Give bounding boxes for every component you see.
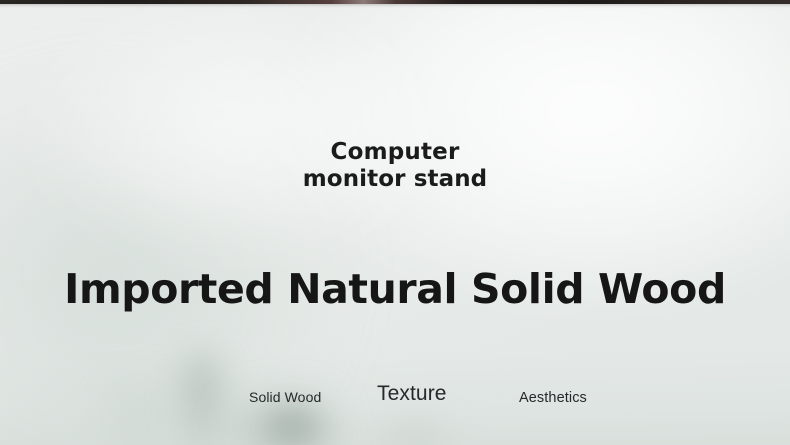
feature-label-aesthetics: Aesthetics <box>519 390 587 406</box>
feature-label-solid-wood: Solid Wood <box>249 389 321 405</box>
product-headline: Imported Natural Solid Wood <box>0 266 790 312</box>
product-banner: Computer monitor stand Imported Natural … <box>0 0 790 445</box>
product-eyebrow: Computer monitor stand <box>0 139 790 193</box>
feature-label-texture: Texture <box>377 382 447 406</box>
product-eyebrow-line-2: monitor stand <box>0 166 790 193</box>
product-eyebrow-line-1: Computer <box>0 139 790 166</box>
text-layer: Computer monitor stand Imported Natural … <box>0 0 790 445</box>
feature-label-row: Solid Wood Texture Aesthetics <box>0 382 790 426</box>
